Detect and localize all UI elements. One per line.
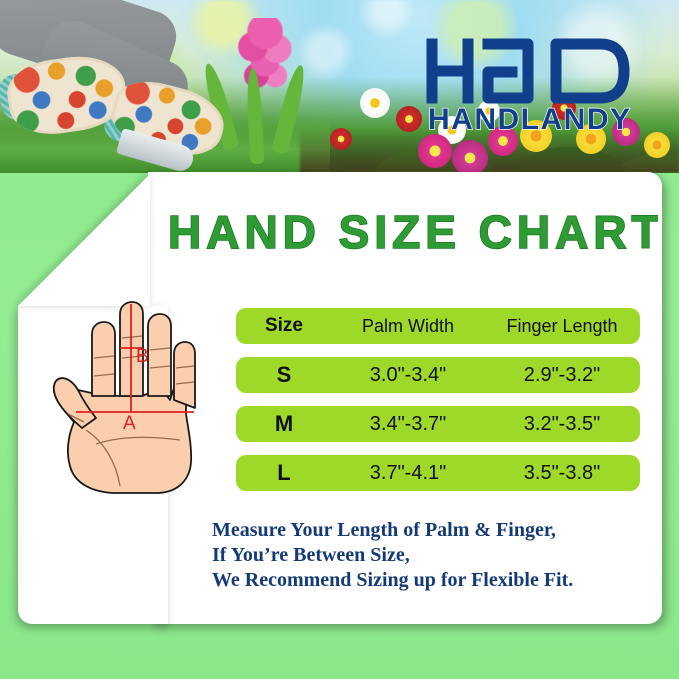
logo-mark-hld	[432, 44, 624, 98]
page-title: HAND SIZE CHART	[168, 206, 658, 258]
table-row: S 3.0"-3.4" 2.9"-3.2"	[236, 357, 640, 393]
table-row: L 3.7"-4.1" 3.5"-3.8"	[236, 455, 640, 491]
chart-title-wrapper: HAND SIZE CHART	[168, 200, 658, 264]
cell-size: M	[236, 411, 332, 437]
cell-size: L	[236, 460, 332, 486]
header-palm-width: Palm Width	[332, 316, 484, 337]
sizing-note: Measure Your Length of Palm & Finger, If…	[212, 518, 642, 593]
flower	[396, 106, 422, 132]
hand-measurement-diagram: A B	[34, 296, 218, 512]
table-header-row: Size Palm Width Finger Length	[236, 308, 640, 344]
flower	[452, 140, 488, 173]
flower	[418, 134, 452, 168]
hand-outline	[54, 302, 195, 493]
table-row: M 3.4"-3.7" 3.2"-3.5"	[236, 406, 640, 442]
cell-palm-width: 3.0"-3.4"	[332, 364, 484, 387]
label-a: A	[123, 413, 136, 434]
hand-size-chart-page: HANDLANDY HAND SIZE CHART	[0, 0, 679, 679]
cell-size: S	[236, 362, 332, 388]
note-line-2: If You’re Between Size,	[212, 543, 642, 568]
flower	[360, 88, 390, 118]
flower	[644, 132, 670, 158]
handlandy-logo: HANDLANDY	[424, 36, 640, 134]
cell-finger-length: 3.2"-3.5"	[484, 413, 640, 436]
note-line-1: Measure Your Length of Palm & Finger,	[212, 518, 642, 543]
cell-palm-width: 3.7"-4.1"	[332, 462, 484, 485]
header-size: Size	[236, 315, 332, 337]
size-table: Size Palm Width Finger Length S 3.0"-3.4…	[236, 308, 640, 504]
cell-finger-length: 3.5"-3.8"	[484, 462, 640, 485]
flower	[330, 128, 352, 150]
note-line-3: We Recommend Sizing up for Flexible Fit.	[212, 568, 642, 593]
label-b: B	[136, 346, 149, 367]
header-finger-length: Finger Length	[484, 316, 640, 337]
cell-palm-width: 3.4"-3.7"	[332, 413, 484, 436]
logo-wordmark: HANDLANDY	[428, 103, 632, 134]
cell-finger-length: 2.9"-3.2"	[484, 364, 640, 387]
